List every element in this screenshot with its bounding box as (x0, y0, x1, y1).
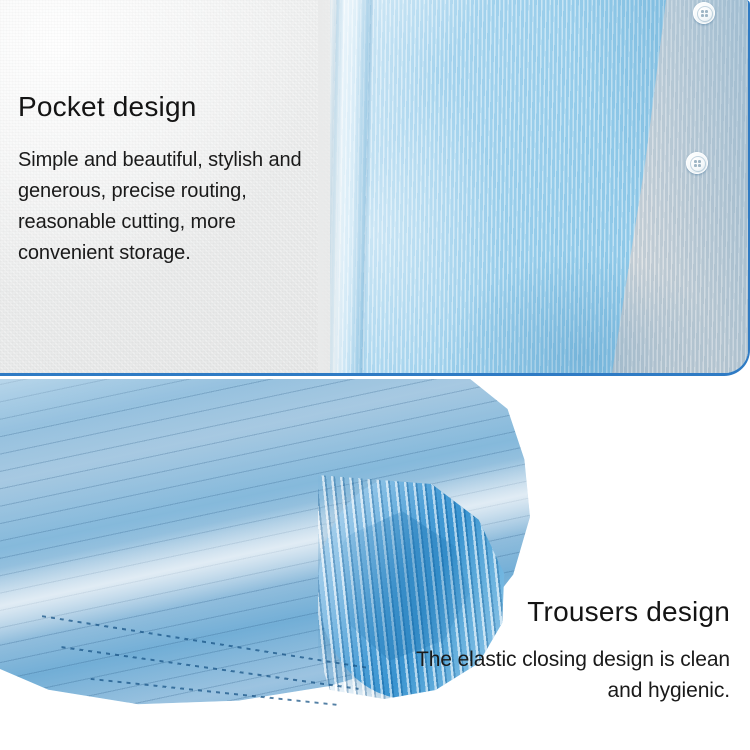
shirt-pocket-photo (310, 0, 750, 373)
pocket-heading: Pocket design (18, 92, 336, 123)
pocket-design-panel: Pocket design Simple and beautiful, styl… (0, 0, 750, 376)
trousers-heading: Trousers design (400, 597, 730, 628)
pocket-body-text: Simple and beautiful, stylish and genero… (18, 145, 336, 269)
shirt-shading (310, 0, 750, 373)
pocket-text-block: Pocket design Simple and beautiful, styl… (18, 92, 336, 269)
trousers-design-panel: Trousers design The elastic closing desi… (0, 379, 750, 750)
shirt-button-lower (686, 152, 708, 174)
trousers-text-block: Trousers design The elastic closing desi… (400, 597, 730, 706)
product-detail-page: Pocket design Simple and beautiful, styl… (0, 0, 750, 750)
shirt-button-top (693, 2, 715, 24)
trousers-body-text: The elastic closing design is clean and … (400, 644, 730, 706)
